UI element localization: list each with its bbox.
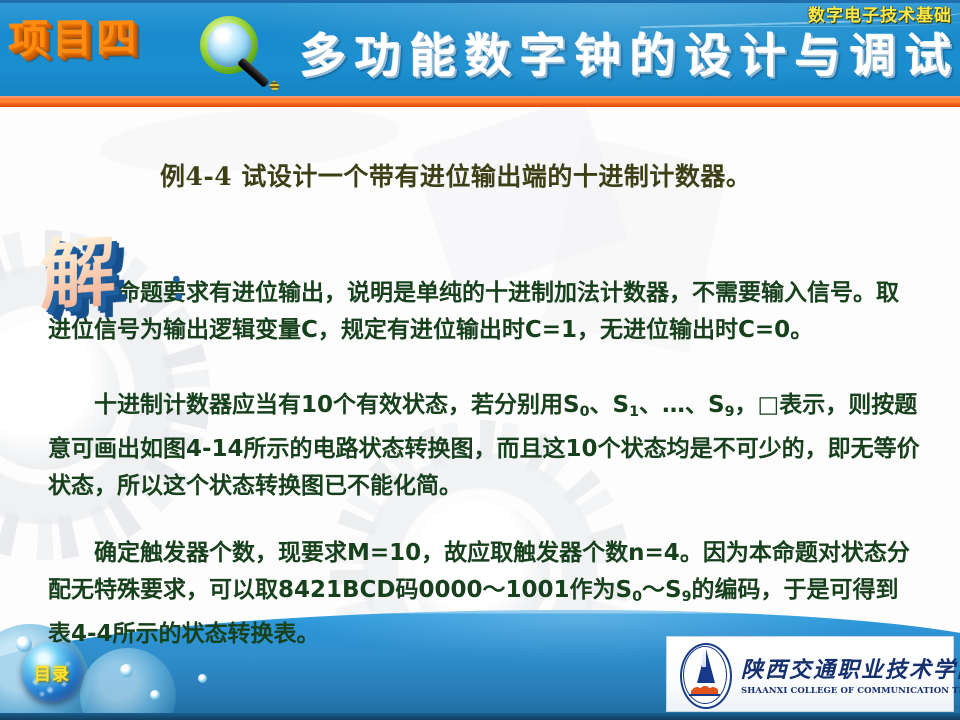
answer-heading-colon: ：: [165, 255, 208, 312]
emblem-mountain-shape: [691, 680, 718, 695]
school-emblem-icon: [673, 641, 735, 707]
orange-divider-gloss: [0, 96, 960, 100]
example-statement: 例4-4 试设计一个带有进位输出端的十进制计数器。: [160, 157, 920, 193]
school-name-cn: 陕西交通职业技术学院: [741, 652, 947, 684]
magnifier-highlight: [214, 28, 231, 39]
p3-sub-0: 0: [632, 589, 642, 605]
footer-bubble: [120, 664, 133, 677]
p2-text-a: 十进制计数器应当有10个有效状态，若分别用S: [94, 392, 580, 418]
magnifier-handle: [237, 57, 270, 88]
p3-text-b: ～S: [642, 577, 682, 603]
p2-text-c: 、…、S: [639, 392, 725, 418]
school-logo-text: 陕西交通职业技术学院 SHAANXI COLLEGE OF COMMUNICAT…: [741, 652, 947, 696]
contents-button[interactable]: 目录: [22, 642, 82, 702]
emblem-pylon-shape: [697, 649, 715, 683]
emblem-beam: [702, 647, 706, 667]
p2-sub-9: 9: [725, 404, 735, 420]
footer-bubble: [198, 674, 207, 683]
slide-root: 数字电子技术基础 项目四 多功能数字钟的设计与调试 例4-4 试设计一个带有进位…: [0, 0, 960, 720]
school-logo: 陕西交通职业技术学院 SHAANXI COLLEGE OF COMMUNICAT…: [666, 636, 954, 712]
project-badge: 项目四: [8, 5, 140, 65]
answer-paragraph-2: 十进制计数器应当有10个有效状态，若分别用S0、S1、…、S9，□表示，则按题意…: [48, 387, 920, 505]
p3-sub-9: 9: [682, 589, 692, 605]
page-title: 多功能数字钟的设计与调试: [0, 20, 960, 86]
footer-bubble: [150, 690, 160, 700]
p2-sub-0: 0: [580, 404, 590, 420]
slide-content: 例4-4 试设计一个带有进位输出端的十进制计数器。 解 ： 该命题要求有进位输出…: [0, 107, 960, 662]
contents-button-label: 目录: [34, 660, 70, 685]
answer-heading: 解: [40, 209, 118, 324]
p2-text-b: 、S: [590, 392, 630, 418]
footer-bottom-edge: [0, 713, 960, 720]
emblem-base-line: [689, 694, 720, 696]
magnifier-icon: [200, 16, 272, 88]
school-name-en: SHAANXI COLLEGE OF COMMUNICATION TECHNOL…: [741, 686, 947, 696]
p2-sub-1: 1: [629, 404, 639, 420]
